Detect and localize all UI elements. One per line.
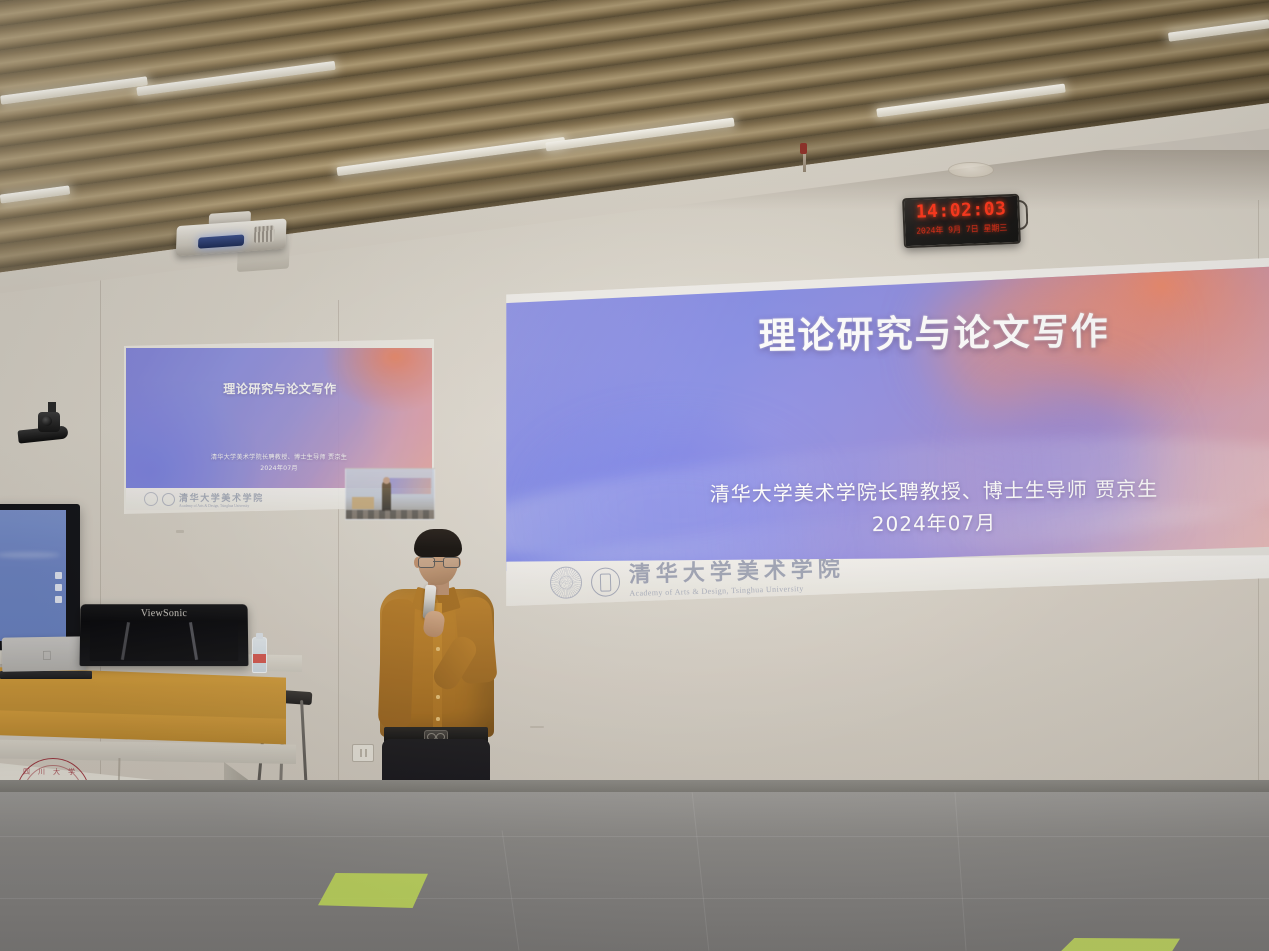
green-floor-marker [318, 873, 428, 908]
secondary-footer-en: Academy of Arts & Design, Tsinghua Unive… [179, 504, 264, 508]
apple-logo-icon:  [42, 649, 53, 661]
secondary-footer-logo: 清华大学美术学院 Academy of Arts & Design, Tsing… [144, 491, 264, 508]
camera-lens-icon [42, 416, 52, 426]
secondary-footer-cn: 清华大学美术学院 [179, 491, 264, 504]
clock-time: 14:02:03 [910, 198, 1012, 223]
wall-scuff [530, 726, 544, 728]
feed-screen-region [387, 478, 431, 494]
ceiling-projector [175, 218, 298, 267]
projector-vent [254, 225, 275, 242]
feed-presenter-head [383, 477, 390, 484]
bottle-cap [256, 633, 263, 639]
laptop-macbook[interactable]:  [2, 636, 87, 671]
secondary-slide-title: 理论研究与论文写作 [126, 380, 432, 397]
glasses-bridge [433, 561, 443, 562]
panel-wallpaper-cloud [0, 552, 60, 558]
water-bottle[interactable] [252, 637, 267, 673]
secondary-footer-text: 清华大学美术学院 Academy of Arts & Design, Tsing… [179, 491, 264, 508]
footer-cn-text: 清华大学美术学院 [629, 558, 846, 586]
lecture-hall-photo: 14:02:03 2024年 9月 7日 星期三 理论研究与论文写作 清华大学美… [0, 0, 1269, 951]
slide-footer-logo: 清华大学美术学院 Academy of Arts & Design, Tsing… [550, 558, 846, 600]
monitor-screen[interactable] [90, 621, 239, 661]
glasses-lens-right [443, 557, 460, 568]
wall-ptz-camera [18, 402, 70, 448]
clock-date: 2024年 9月 7日 星期三 [909, 222, 1014, 237]
footer-text-block: 清华大学美术学院 Academy of Arts & Design, Tsing… [629, 558, 846, 598]
shirt-button [436, 717, 440, 721]
main-projection-screen: 理论研究与论文写作 清华大学美术学院长聘教授、博士生导师 贾京生 2024年07… [504, 258, 1269, 606]
shirt-button [436, 695, 440, 699]
feed-podium [352, 497, 374, 509]
aad-mark-icon [591, 567, 621, 597]
tsinghua-seal-icon [550, 566, 583, 599]
feed-audience [346, 510, 434, 519]
bottle-label [253, 654, 266, 663]
tsinghua-seal-icon [144, 492, 158, 506]
secondary-slide-presenter: 清华大学美术学院长聘教授、博士生导师 贾京生 [126, 452, 432, 461]
eyeglasses-icon [418, 557, 458, 567]
presenter-hair [414, 529, 462, 557]
feed-presenter [382, 481, 391, 511]
laptop-base [0, 671, 92, 679]
glasses-lens-left [418, 557, 435, 568]
desk-monitor[interactable]: ViewSonic [80, 604, 249, 666]
floor-tile-seam [0, 898, 1269, 899]
panel-control-icon[interactable] [55, 596, 62, 603]
wall-digital-clock: 14:02:03 2024年 9月 7日 星期三 [902, 194, 1021, 248]
monitor-brand-label: ViewSonic [80, 608, 248, 619]
panel-control-icon[interactable] [55, 584, 62, 591]
floor-tile-seam [0, 836, 1269, 837]
green-floor-marker [1060, 938, 1180, 951]
camera-feed-overlay [345, 468, 435, 520]
smoke-detector [948, 162, 994, 178]
aad-mark-icon [162, 493, 175, 506]
slide-title: 理论研究与论文写作 [504, 299, 1269, 364]
panel-screen[interactable] [0, 510, 66, 641]
logo-cn-text: 四川大学 [23, 767, 83, 777]
wall-scuff [176, 530, 184, 533]
presenter-left-arm [378, 598, 416, 729]
sprinkler-head [800, 143, 807, 154]
shirt-button [436, 647, 440, 651]
tile-floor [0, 792, 1269, 951]
panel-control-icon[interactable] [55, 572, 62, 579]
